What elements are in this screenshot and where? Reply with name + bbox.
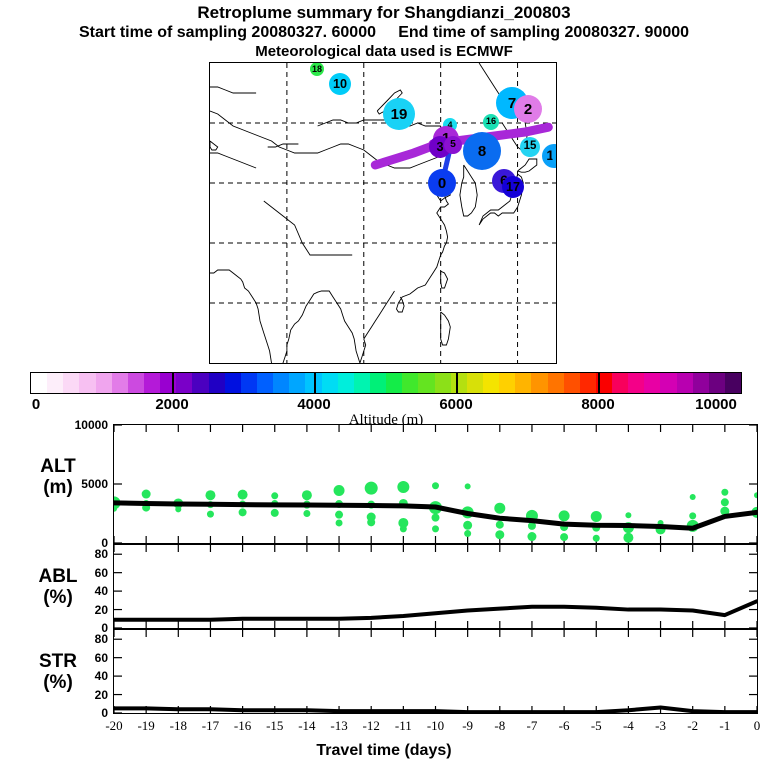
colorbar-segment bbox=[338, 373, 354, 393]
xtick-label: -17 bbox=[202, 718, 219, 734]
map-plume-marker[interactable]: 19 bbox=[383, 98, 415, 130]
ytick-label: 20 bbox=[40, 688, 108, 702]
sampling-time-line: Start time of sampling 20080327. 60000 E… bbox=[0, 23, 768, 43]
colorbar-divider bbox=[172, 372, 174, 394]
colorbar-tick-label: 2000 bbox=[155, 396, 188, 413]
colorbar-segment bbox=[31, 373, 47, 393]
xtick-label: -3 bbox=[655, 718, 666, 734]
xtick-label: -7 bbox=[527, 718, 538, 734]
xtick-label: -2 bbox=[687, 718, 698, 734]
colorbar-segment bbox=[418, 373, 434, 393]
colorbar-segment bbox=[564, 373, 580, 393]
colorbar-segment bbox=[499, 373, 515, 393]
colorbar-segment bbox=[628, 373, 644, 393]
colorbar-segment bbox=[725, 373, 741, 393]
retroplume-map[interactable]: 1810197216413581514130617 bbox=[209, 62, 557, 364]
altitude-colorbar[interactable] bbox=[30, 372, 742, 394]
map-plume-marker[interactable]: 17 bbox=[502, 176, 524, 198]
colorbar-segment bbox=[548, 373, 564, 393]
colorbar-segment bbox=[47, 373, 63, 393]
figure-title-block: Retroplume summary for Shangdianzi_20080… bbox=[0, 0, 768, 61]
colorbar-tick-label: 10000 bbox=[695, 396, 737, 413]
colorbar-segment bbox=[677, 373, 693, 393]
colorbar-segment bbox=[273, 373, 289, 393]
colorbar-segment bbox=[467, 373, 483, 393]
colorbar-divider bbox=[456, 372, 458, 394]
colorbar-tick-label: 0 bbox=[32, 396, 40, 413]
xtick-label: -18 bbox=[170, 718, 187, 734]
ytick-label: 10000 bbox=[40, 418, 108, 432]
colorbar-segment bbox=[63, 373, 79, 393]
abl-panel[interactable] bbox=[113, 544, 758, 629]
ytick-label: 40 bbox=[40, 584, 108, 598]
xtick-label: -8 bbox=[494, 718, 505, 734]
map-plume-marker[interactable]: 10 bbox=[329, 73, 351, 95]
met-data-label: Meteorological data used is ECMWF bbox=[0, 43, 768, 61]
colorbar-segment bbox=[515, 373, 531, 393]
xtick-label: -9 bbox=[462, 718, 473, 734]
colorbar-segment bbox=[386, 373, 402, 393]
xtick-label: 0 bbox=[754, 718, 761, 734]
colorbar-segment bbox=[209, 373, 225, 393]
colorbar-segment bbox=[435, 373, 451, 393]
colorbar-segment bbox=[289, 373, 305, 393]
colorbar-segment bbox=[660, 373, 676, 393]
abl-plot-svg bbox=[114, 545, 757, 628]
xtick-label: -16 bbox=[234, 718, 251, 734]
colorbar-tick-label: 4000 bbox=[297, 396, 330, 413]
altitude-colorbar-group: 0200040006000800010000 Altitude (m) bbox=[30, 372, 742, 394]
colorbar-segment bbox=[402, 373, 418, 393]
colorbar-segment bbox=[483, 373, 499, 393]
colorbar-segment bbox=[112, 373, 128, 393]
colorbar-segment bbox=[322, 373, 338, 393]
colorbar-segment bbox=[257, 373, 273, 393]
colorbar-segment bbox=[128, 373, 144, 393]
ytick-label: 60 bbox=[40, 566, 108, 580]
xtick-label: -20 bbox=[105, 718, 122, 734]
colorbar-segment bbox=[79, 373, 95, 393]
xtick-label: -1 bbox=[719, 718, 730, 734]
colorbar-segment bbox=[241, 373, 257, 393]
xtick-label: -11 bbox=[395, 718, 412, 734]
colorbar-segment bbox=[144, 373, 160, 393]
colorbar-segment bbox=[644, 373, 660, 393]
xtick-label: -6 bbox=[559, 718, 570, 734]
ytick-label: 80 bbox=[40, 632, 108, 646]
colorbar-tick-label: 8000 bbox=[581, 396, 614, 413]
colorbar-segment bbox=[451, 373, 467, 393]
ytick-label: 5000 bbox=[40, 477, 108, 491]
map-plume-marker[interactable]: 8 bbox=[463, 132, 501, 170]
timeseries-panels: ALT (m) 0500010000 ABL (%) 020406080 STR… bbox=[0, 424, 768, 768]
page-title: Retroplume summary for Shangdianzi_20080… bbox=[0, 3, 768, 23]
ytick-label: 40 bbox=[40, 669, 108, 683]
colorbar-segment bbox=[176, 373, 192, 393]
colorbar-segment bbox=[225, 373, 241, 393]
xtick-label: -19 bbox=[137, 718, 154, 734]
colorbar-segment bbox=[709, 373, 725, 393]
retroplume-summary-figure: Retroplume summary for Shangdianzi_20080… bbox=[0, 0, 768, 768]
colorbar-segment bbox=[693, 373, 709, 393]
colorbar-segment bbox=[612, 373, 628, 393]
str-panel[interactable] bbox=[113, 629, 758, 714]
end-time-label: End time of sampling 20080327. 90000 bbox=[398, 24, 689, 41]
colorbar-segment bbox=[370, 373, 386, 393]
map-plume-marker[interactable]: 5 bbox=[444, 136, 462, 154]
map-plume-marker[interactable]: 15 bbox=[520, 137, 540, 157]
ytick-label: 60 bbox=[40, 651, 108, 665]
map-plume-marker[interactable]: 16 bbox=[483, 114, 499, 130]
xtick-label: -5 bbox=[591, 718, 602, 734]
colorbar-segment bbox=[531, 373, 547, 393]
ytick-label: 20 bbox=[40, 603, 108, 617]
colorbar-segment bbox=[96, 373, 112, 393]
alt-panel[interactable] bbox=[113, 424, 758, 544]
colorbar-tick-label: 6000 bbox=[439, 396, 472, 413]
colorbar-divider bbox=[314, 372, 316, 394]
map-plume-marker[interactable]: 2 bbox=[514, 95, 542, 123]
ytick-label: 80 bbox=[40, 547, 108, 561]
xaxis-title: Travel time (days) bbox=[0, 742, 768, 760]
colorbar-segment bbox=[580, 373, 596, 393]
map-plume-marker[interactable]: 0 bbox=[428, 169, 456, 197]
colorbar-segment bbox=[354, 373, 370, 393]
xtick-label: -14 bbox=[298, 718, 315, 734]
str-plot-svg bbox=[114, 630, 757, 713]
map-plume-marker[interactable]: 18 bbox=[310, 62, 324, 76]
xtick-label: -15 bbox=[266, 718, 283, 734]
colorbar-divider bbox=[598, 372, 600, 394]
start-time-label: Start time of sampling 20080327. 60000 bbox=[79, 24, 376, 41]
xtick-label: -12 bbox=[363, 718, 380, 734]
xtick-label: -10 bbox=[427, 718, 444, 734]
xtick-label: -13 bbox=[330, 718, 347, 734]
xtick-label: -4 bbox=[623, 718, 634, 734]
alt-plot-svg bbox=[114, 425, 757, 543]
colorbar-segment bbox=[192, 373, 208, 393]
ytick-label: 0 bbox=[40, 706, 108, 720]
